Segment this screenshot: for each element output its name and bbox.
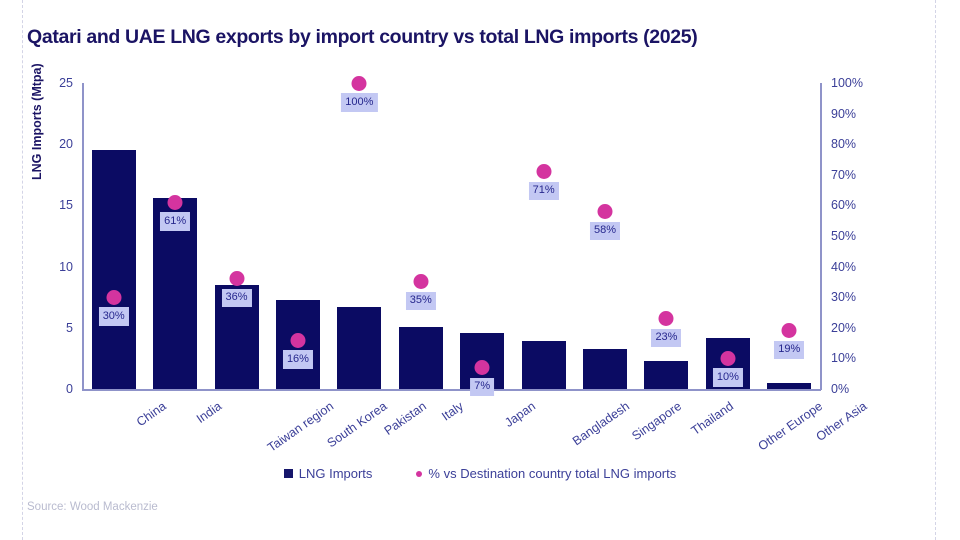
y-axis-right-tick: 80%	[831, 138, 856, 151]
percent-data-label: 61%	[160, 212, 190, 231]
percent-marker[interactable]	[598, 204, 613, 219]
legend-label: LNG Imports	[299, 466, 373, 481]
plot-area: 0510152025 0%10%20%30%40%50%60%70%80%90%…	[83, 83, 820, 389]
y-axis-left-tick: 0	[66, 383, 73, 396]
bar[interactable]	[522, 341, 566, 389]
y-axis-right-tick: 40%	[831, 261, 856, 274]
y-axis-right-tick: 50%	[831, 230, 856, 243]
percent-marker[interactable]	[782, 323, 797, 338]
x-axis-category-label: India	[194, 399, 224, 426]
y-axis-left-tick: 10	[59, 261, 73, 274]
bar[interactable]	[767, 383, 811, 389]
percent-data-label: 58%	[590, 222, 620, 241]
bar[interactable]	[92, 150, 136, 389]
percent-marker[interactable]	[106, 290, 121, 305]
x-axis-category-label: Other Europe	[755, 399, 825, 454]
percent-data-label: 100%	[341, 93, 377, 112]
percent-marker[interactable]	[720, 351, 735, 366]
y-axis-right-line	[820, 83, 822, 390]
x-axis-category-label: Italy	[439, 399, 466, 424]
x-axis-category-label: South Korea	[325, 399, 390, 450]
y-axis-left-line	[82, 83, 84, 390]
percent-marker[interactable]	[290, 333, 305, 348]
y-axis-right-tick: 30%	[831, 291, 856, 304]
y-axis-left-tick: 20	[59, 138, 73, 151]
chart-legend: LNG Imports % vs Destination country tot…	[0, 466, 960, 481]
percent-marker[interactable]	[413, 274, 428, 289]
slide-canvas: Qatari and UAE LNG exports by import cou…	[0, 0, 960, 540]
bar[interactable]	[337, 307, 381, 389]
dot-swatch-icon	[416, 471, 422, 477]
y-axis-title: LNG Imports (Mtpa)	[30, 63, 44, 180]
percent-data-label: 30%	[99, 307, 129, 326]
chart-title: Qatari and UAE LNG exports by import cou…	[27, 26, 907, 49]
y-axis-right-tick: 100%	[831, 77, 863, 90]
x-axis-category-label: Thailand	[689, 399, 736, 438]
x-axis-line	[82, 389, 821, 391]
y-axis-right-tick: 0%	[831, 383, 849, 396]
legend-item-lng-imports[interactable]: LNG Imports	[284, 466, 373, 481]
percent-data-label: 36%	[222, 289, 252, 308]
y-axis-left-tick: 15	[59, 199, 73, 212]
bar[interactable]	[583, 349, 627, 389]
percent-marker[interactable]	[352, 76, 367, 91]
y-axis-right-tick: 90%	[831, 108, 856, 121]
percent-data-label: 19%	[774, 341, 804, 360]
x-axis-category-label: Bangladesh	[570, 399, 632, 448]
y-axis-right-tick: 70%	[831, 169, 856, 182]
percent-data-label: 71%	[529, 182, 559, 201]
percent-marker[interactable]	[475, 360, 490, 375]
x-axis-category-label: Japan	[502, 399, 538, 430]
x-axis-category-label: China	[134, 399, 169, 429]
percent-marker[interactable]	[229, 271, 244, 286]
percent-marker[interactable]	[168, 195, 183, 210]
source-note: Source: Wood Mackenzie	[27, 501, 158, 513]
percent-data-label: 16%	[283, 350, 313, 369]
x-axis-category-label: Taiwan region	[264, 399, 335, 455]
percent-marker[interactable]	[536, 164, 551, 179]
percent-data-label: 7%	[470, 378, 494, 397]
legend-label: % vs Destination country total LNG impor…	[428, 466, 676, 481]
x-axis-category-label: Pakistan	[382, 399, 429, 438]
y-axis-left-tick: 25	[59, 77, 73, 90]
legend-item-percent-vs-destination[interactable]: % vs Destination country total LNG impor…	[416, 466, 676, 481]
percent-data-label: 35%	[406, 292, 436, 311]
percent-data-label: 10%	[713, 368, 743, 387]
percent-marker[interactable]	[659, 311, 674, 326]
square-swatch-icon	[284, 469, 293, 478]
slide-guide-right	[935, 0, 936, 540]
y-axis-left-tick: 5	[66, 322, 73, 335]
y-axis-right-tick: 20%	[831, 322, 856, 335]
bar[interactable]	[399, 327, 443, 389]
percent-data-label: 23%	[651, 329, 681, 348]
y-axis-right-tick: 10%	[831, 352, 856, 365]
slide-guide-left	[22, 0, 23, 540]
x-axis-category-label: Singapore	[629, 399, 684, 443]
bar[interactable]	[644, 361, 688, 389]
y-axis-right-tick: 60%	[831, 199, 856, 212]
